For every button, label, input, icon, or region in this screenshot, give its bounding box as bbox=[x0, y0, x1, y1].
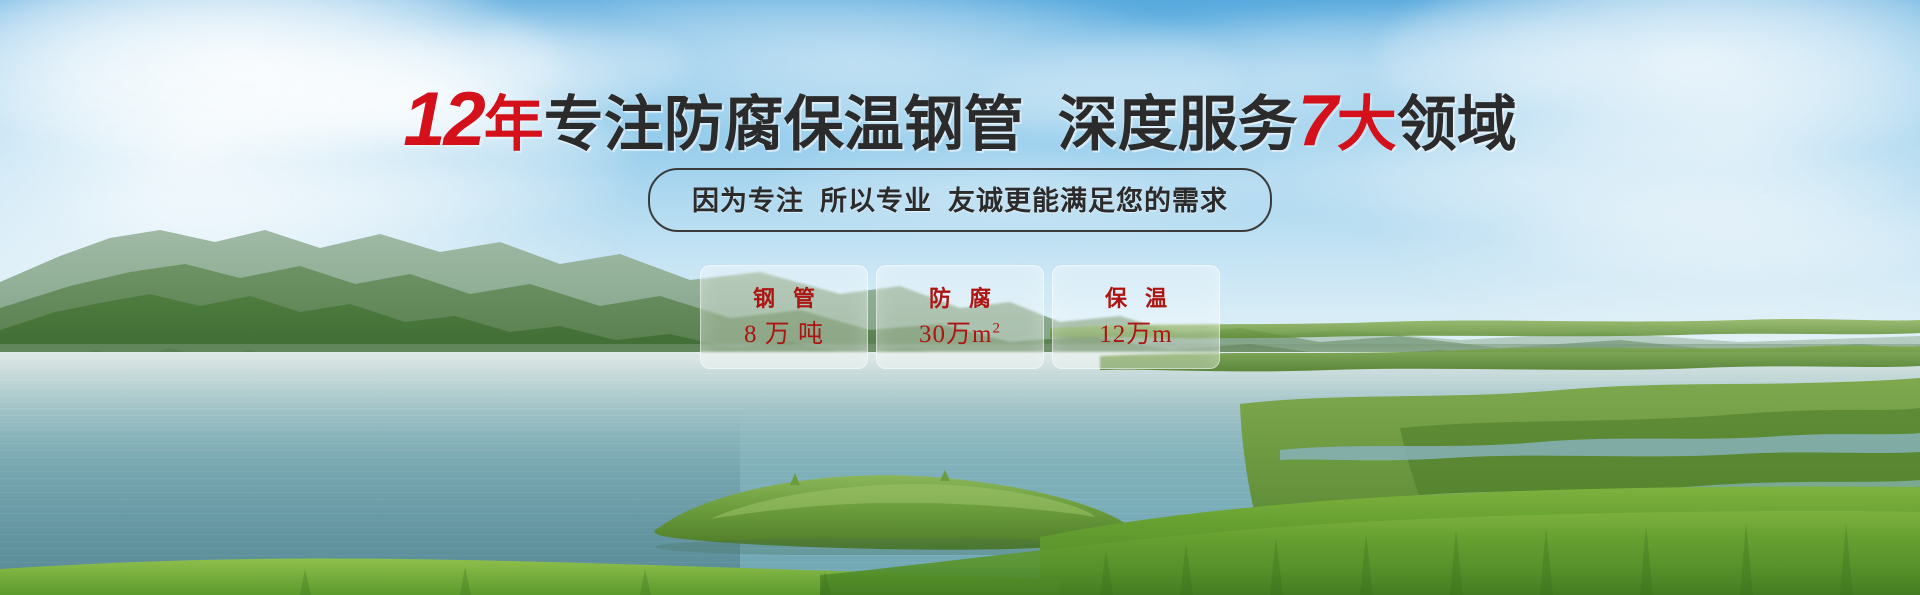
stat-card-group: 钢 管 8 万 吨 防 腐 30万m2 保 温 12万m bbox=[700, 265, 1220, 369]
stat-card-insulation[interactable]: 保 温 12万m bbox=[1052, 265, 1220, 369]
foreground-grass bbox=[0, 465, 1920, 595]
stat-card-title: 钢 管 bbox=[747, 288, 821, 310]
stat-card-value: 12万m bbox=[1099, 322, 1172, 347]
stat-card-value: 30万m2 bbox=[919, 322, 1001, 347]
headline-black-1: 专注防腐保温钢管 bbox=[544, 91, 1024, 158]
stat-card-title: 防 腐 bbox=[923, 288, 997, 310]
headline-black-3: 领域 bbox=[1397, 91, 1517, 158]
stat-card-steel-pipe[interactable]: 钢 管 8 万 吨 bbox=[700, 265, 868, 369]
stat-card-value-text: 8 万 吨 bbox=[744, 321, 824, 348]
headline-years-number: 12 bbox=[403, 77, 484, 162]
page-title: 12年专注防腐保温钢管深度服务7大领域 bbox=[0, 82, 1920, 158]
stat-card-value: 8 万 吨 bbox=[744, 322, 824, 347]
subtitle-pill: 因为专注所以专业友诚更能满足您的需求 bbox=[648, 168, 1272, 232]
headline-fields-number: 7 bbox=[1298, 81, 1337, 161]
subtitle-segment-3: 友诚更能满足您的需求 bbox=[948, 186, 1228, 216]
stat-card-value-text: 12万m bbox=[1099, 321, 1172, 348]
headline-black-2: 深度服务 bbox=[1058, 91, 1298, 158]
subtitle-segment-1: 因为专注 bbox=[692, 186, 804, 216]
subtitle-segment-2: 所以专业 bbox=[820, 186, 932, 216]
stat-card-value-superscript: 2 bbox=[992, 320, 1001, 336]
stat-card-value-text: 30万m bbox=[919, 321, 992, 348]
headline-fields-unit: 大 bbox=[1337, 91, 1397, 158]
promo-banner: 12年专注防腐保温钢管深度服务7大领域 因为专注所以专业友诚更能满足您的需求 钢… bbox=[0, 0, 1920, 595]
stat-card-anticorrosion[interactable]: 防 腐 30万m2 bbox=[876, 265, 1044, 369]
headline-years-unit: 年 bbox=[484, 91, 544, 158]
stat-card-title: 保 温 bbox=[1099, 288, 1173, 310]
